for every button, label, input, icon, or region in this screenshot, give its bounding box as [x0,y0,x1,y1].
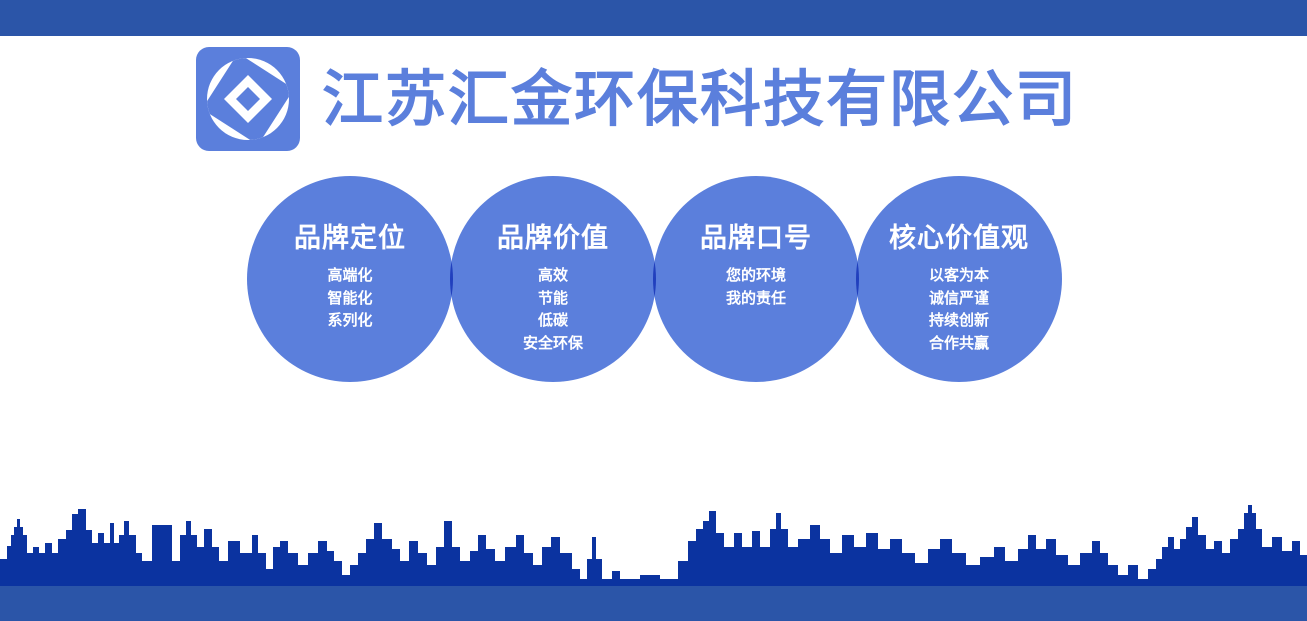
diamond-circle-logo-icon [196,47,300,151]
bottom-accent-band [0,586,1307,621]
company-name: 江苏汇金环保科技有限公司 [322,69,1078,130]
city-skyline-silhouette-icon [0,491,1307,621]
brand-poster-page: 江苏汇金环保科技有限公司 .vc{fill:#5b7fdc;} 品牌定位 高端化… [0,0,1307,621]
top-accent-band [0,0,1307,36]
venn-diagram: .vc{fill:#5b7fdc;} 品牌定位 高端化 智能化 系列化 品牌价值… [0,176,1307,382]
venn-circles-graphic: .vc{fill:#5b7fdc;} [0,176,1307,382]
brand-header: 江苏汇金环保科技有限公司 [196,47,1078,151]
